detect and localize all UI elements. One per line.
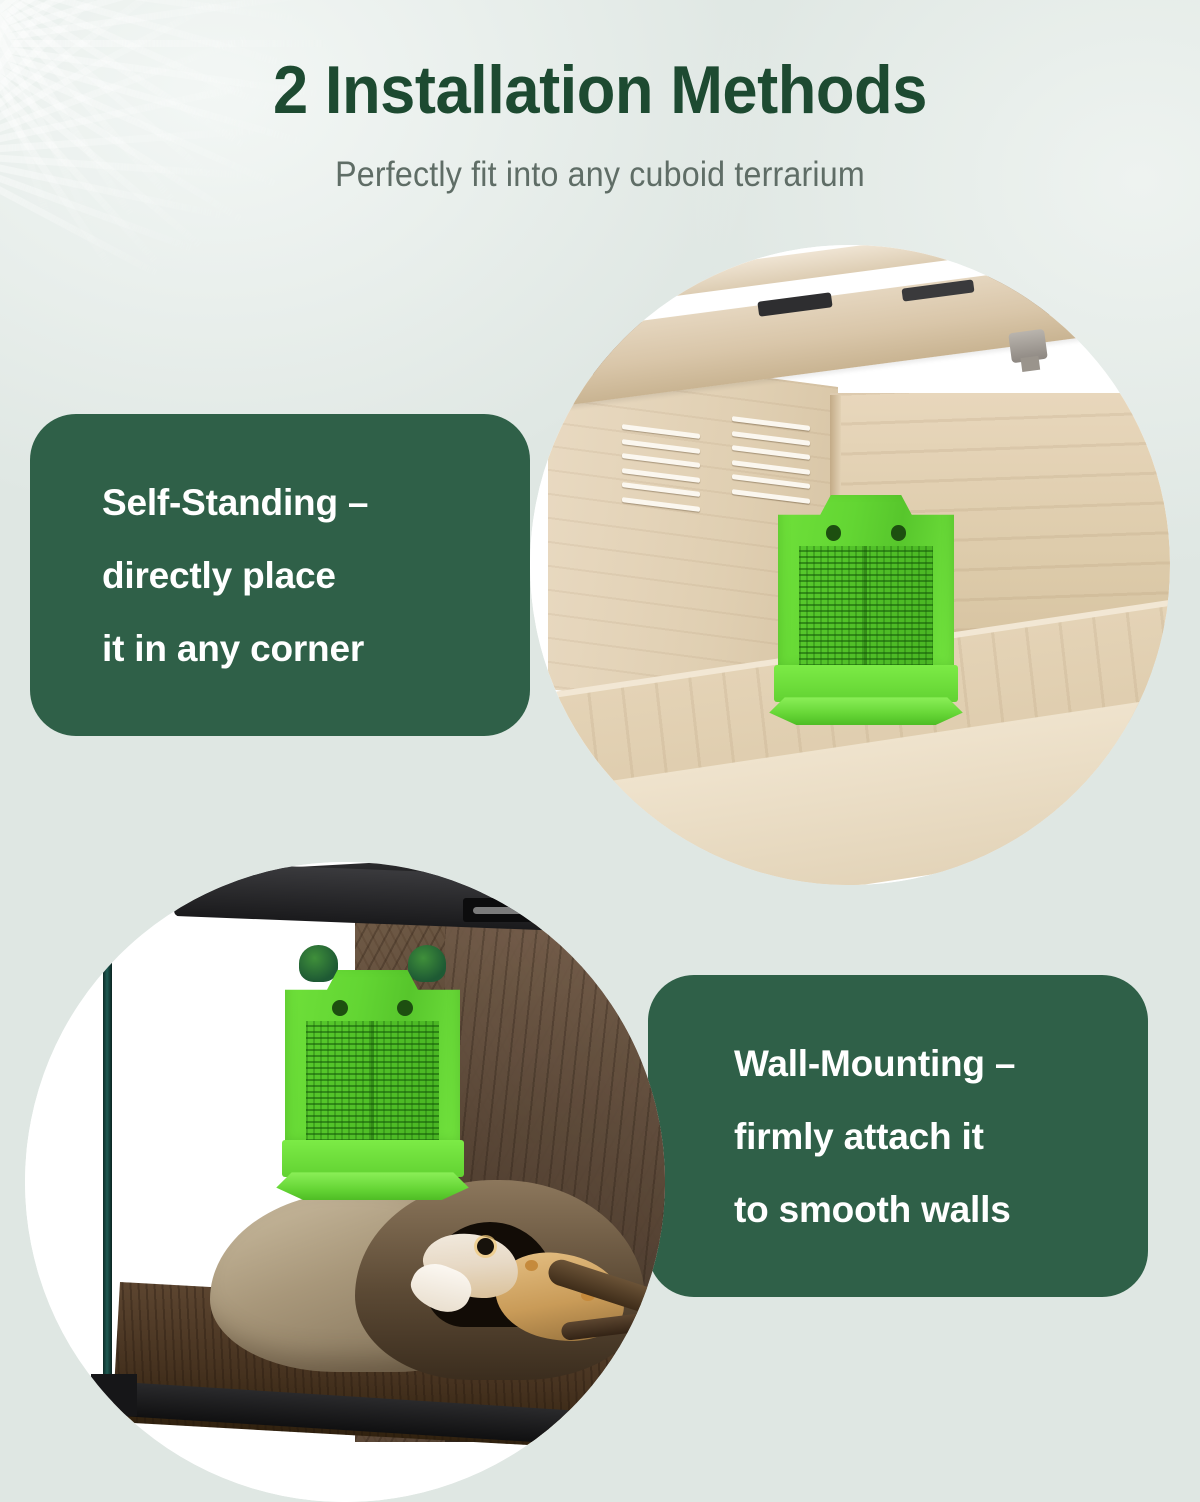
method-card-line: Wall-Mounting – bbox=[734, 1045, 1015, 1082]
method-card-self-standing: Self-Standing – directly place it in any… bbox=[30, 414, 530, 736]
method-card-line: to smooth walls bbox=[734, 1191, 1011, 1228]
feeder-tray bbox=[282, 1140, 464, 1177]
glass-terrarium-scene bbox=[25, 862, 665, 1502]
tank-brand-badge bbox=[463, 898, 535, 922]
ventilation-slots bbox=[732, 416, 810, 504]
wooden-terrarium-scene bbox=[530, 245, 1170, 885]
feeder-mount-hole bbox=[397, 1000, 413, 1016]
tank-glass-edge bbox=[103, 918, 112, 1388]
feeder-tray bbox=[774, 665, 957, 702]
feeder-base bbox=[276, 1172, 469, 1200]
header: 2 Installation Methods Perfectly fit int… bbox=[0, 0, 1200, 195]
method-card-wall-mounting: Wall-Mounting – firmly attach it to smoo… bbox=[648, 975, 1148, 1297]
glass-terrarium-wall-photo bbox=[25, 862, 665, 1502]
method-card-line: it in any corner bbox=[102, 630, 364, 667]
ventilation-slots bbox=[622, 424, 700, 512]
feeder-mount-hole bbox=[826, 525, 842, 541]
page-title: 2 Installation Methods bbox=[42, 0, 1158, 125]
leopard-gecko-eye bbox=[477, 1238, 494, 1255]
suction-cup bbox=[408, 945, 447, 982]
corner-feeder-product bbox=[778, 495, 954, 725]
feeder-mount-hole bbox=[332, 1000, 348, 1016]
page-subtitle: Perfectly fit into any cuboid terrarium bbox=[48, 125, 1152, 195]
method-card-line: directly place bbox=[102, 557, 336, 594]
lid-screw bbox=[1008, 329, 1048, 363]
wall-mounted-feeder-product bbox=[285, 970, 460, 1200]
suction-cup bbox=[299, 945, 338, 982]
feeder-base bbox=[769, 697, 963, 725]
gecko-spot bbox=[525, 1260, 538, 1271]
feeder-mesh-fold bbox=[864, 546, 867, 684]
method-card-line: Self-Standing – bbox=[102, 484, 368, 521]
wooden-terrarium-corner-photo bbox=[530, 245, 1170, 885]
feeder-mesh-fold bbox=[371, 1021, 374, 1159]
tank-corner-piece bbox=[91, 1374, 137, 1416]
method-card-line: firmly attach it bbox=[734, 1118, 984, 1155]
